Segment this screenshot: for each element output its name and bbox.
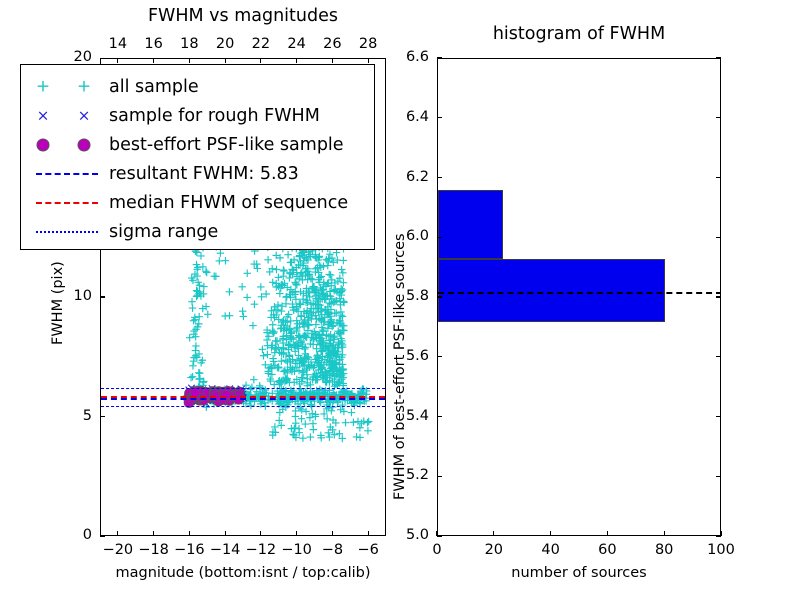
- legend-marker-sigma-range: [29, 221, 105, 243]
- left-panel-title: FWHM vs magnitudes: [100, 6, 386, 26]
- sigma-range-lower-line: [101, 406, 385, 407]
- x-ticklabel: 20: [470, 542, 518, 558]
- legend-label: all sample: [105, 77, 199, 97]
- x-ticklabel: 80: [640, 542, 688, 558]
- y-ticklabel: 5.0: [381, 527, 429, 543]
- histogram-bar: [438, 190, 503, 259]
- y-tick-right: [716, 535, 721, 536]
- x-tick-bottom: [117, 531, 118, 536]
- y-tick-right: [716, 356, 721, 357]
- x-tick-bottom: [368, 531, 369, 536]
- x-ticklabel: 0: [413, 542, 461, 558]
- legend-marker-rough-fwhm: × ×: [29, 105, 105, 127]
- y-ticklabel: 5.8: [381, 288, 429, 304]
- legend-item-median-fhwm: median FHWM of sequence: [29, 188, 364, 217]
- figure-canvas: FWHM vs magnitudes magnitude (bottom:isn…: [0, 0, 800, 600]
- legend-item-resultant-fwhm: resultant FWHM: 5.83: [29, 159, 364, 188]
- legend-label: best-effort PSF-like sample: [105, 135, 344, 155]
- y-tick: [437, 177, 442, 178]
- x-tick-top: [296, 58, 297, 63]
- y-ticklabel: 6.6: [381, 49, 429, 65]
- y-tick: [437, 237, 442, 238]
- legend-marker-median-fhwm: [29, 192, 105, 214]
- dashed-line-icon: [36, 202, 98, 204]
- legend-item-all-sample: + + all sample: [29, 72, 364, 101]
- x-tick-top: [225, 58, 226, 63]
- y-ticklabel: 6.0: [381, 228, 429, 244]
- legend-label: sigma range: [105, 222, 218, 242]
- legend-marker-all-sample: + +: [29, 76, 105, 98]
- x-tick: [607, 531, 608, 536]
- x-tick-bottom: [153, 531, 154, 536]
- dashed-line-icon: [36, 173, 98, 175]
- x-tick-top: [332, 58, 333, 63]
- x-tick-bottom: [225, 531, 226, 536]
- x-tick-top: [260, 58, 261, 63]
- y-tick: [437, 117, 442, 118]
- y-tick: [100, 296, 105, 297]
- plus-icon: +: [77, 78, 91, 95]
- y-tick: [437, 535, 442, 536]
- plus-icon: +: [36, 78, 50, 95]
- y-ticklabel: 10: [46, 288, 92, 304]
- legend-marker-psf-like: [29, 134, 105, 156]
- filled-circle-icon: [37, 138, 50, 151]
- histogram-of-fwhm-axes: [437, 58, 721, 536]
- y-tick: [437, 476, 442, 477]
- y-tick-right: [716, 416, 721, 417]
- x-tick-top: [153, 58, 154, 63]
- x-tick-top: [189, 58, 190, 63]
- y-ticklabel: 20: [46, 49, 92, 65]
- x-tick: [493, 531, 494, 536]
- right-panel-ylabel: FWHM of best-effort PSF-like sources: [392, 233, 408, 500]
- x-ticklabel-bottom: −6: [344, 542, 392, 558]
- histogram-bar: [438, 259, 665, 322]
- y-tick: [100, 416, 105, 417]
- dash-dot-line-icon: [36, 231, 98, 233]
- filled-circle-icon: [78, 138, 91, 151]
- x-tick-bottom: [296, 531, 297, 536]
- x-ticklabel: 100: [697, 542, 745, 558]
- legend-item-psf-like: best-effort PSF-like sample: [29, 130, 364, 159]
- y-tick: [437, 57, 442, 58]
- x-tick: [550, 531, 551, 536]
- y-tick-right: [716, 117, 721, 118]
- x-tick-top: [368, 58, 369, 63]
- y-ticklabel: 5: [46, 408, 92, 424]
- median-fhwm-line: [101, 396, 385, 398]
- legend-item-rough-fwhm: × × sample for rough FWHM: [29, 101, 364, 130]
- cross-icon: ×: [37, 108, 50, 123]
- left-panel-xlabel: magnitude (bottom:isnt / top:calib): [100, 565, 386, 581]
- legend-label: median FHWM of sequence: [105, 193, 348, 213]
- y-ticklabel: 0: [46, 527, 92, 543]
- y-ticklabel: 5.2: [381, 467, 429, 483]
- y-ticklabel: 6.4: [381, 109, 429, 125]
- x-tick-bottom: [260, 531, 261, 536]
- legend-marker-resultant-fwhm: [29, 163, 105, 185]
- y-tick-right: [716, 476, 721, 477]
- y-ticklabel: 5.6: [381, 348, 429, 364]
- y-tick: [437, 356, 442, 357]
- legend-item-sigma-range: sigma range: [29, 217, 364, 246]
- y-tick-right: [716, 237, 721, 238]
- y-tick-right: [716, 177, 721, 178]
- y-ticklabel: 5.4: [381, 408, 429, 424]
- x-tick: [664, 531, 665, 536]
- sigma-range-upper-line: [101, 388, 385, 389]
- y-tick: [437, 296, 442, 297]
- x-tick-bottom: [332, 531, 333, 536]
- x-tick-top: [117, 58, 118, 63]
- y-tick-right: [716, 296, 721, 297]
- x-ticklabel: 60: [583, 542, 631, 558]
- cross-icon: ×: [78, 108, 91, 123]
- legend-label: resultant FWHM: 5.83: [105, 164, 299, 184]
- right-panel-xlabel: number of sources: [437, 565, 721, 581]
- legend-label: sample for rough FWHM: [105, 106, 320, 126]
- right-panel-title: histogram of FWHM: [437, 24, 721, 44]
- legend-box: + + all sample × × sample for rough FWHM…: [20, 64, 375, 250]
- y-tick: [100, 535, 105, 536]
- x-ticklabel: 40: [527, 542, 575, 558]
- y-ticklabel: 6.2: [381, 169, 429, 185]
- histogram-plot-area: [438, 59, 720, 535]
- median-fwhm-line: [438, 292, 720, 294]
- y-tick: [437, 416, 442, 417]
- x-tick-bottom: [189, 531, 190, 536]
- y-tick-right: [716, 57, 721, 58]
